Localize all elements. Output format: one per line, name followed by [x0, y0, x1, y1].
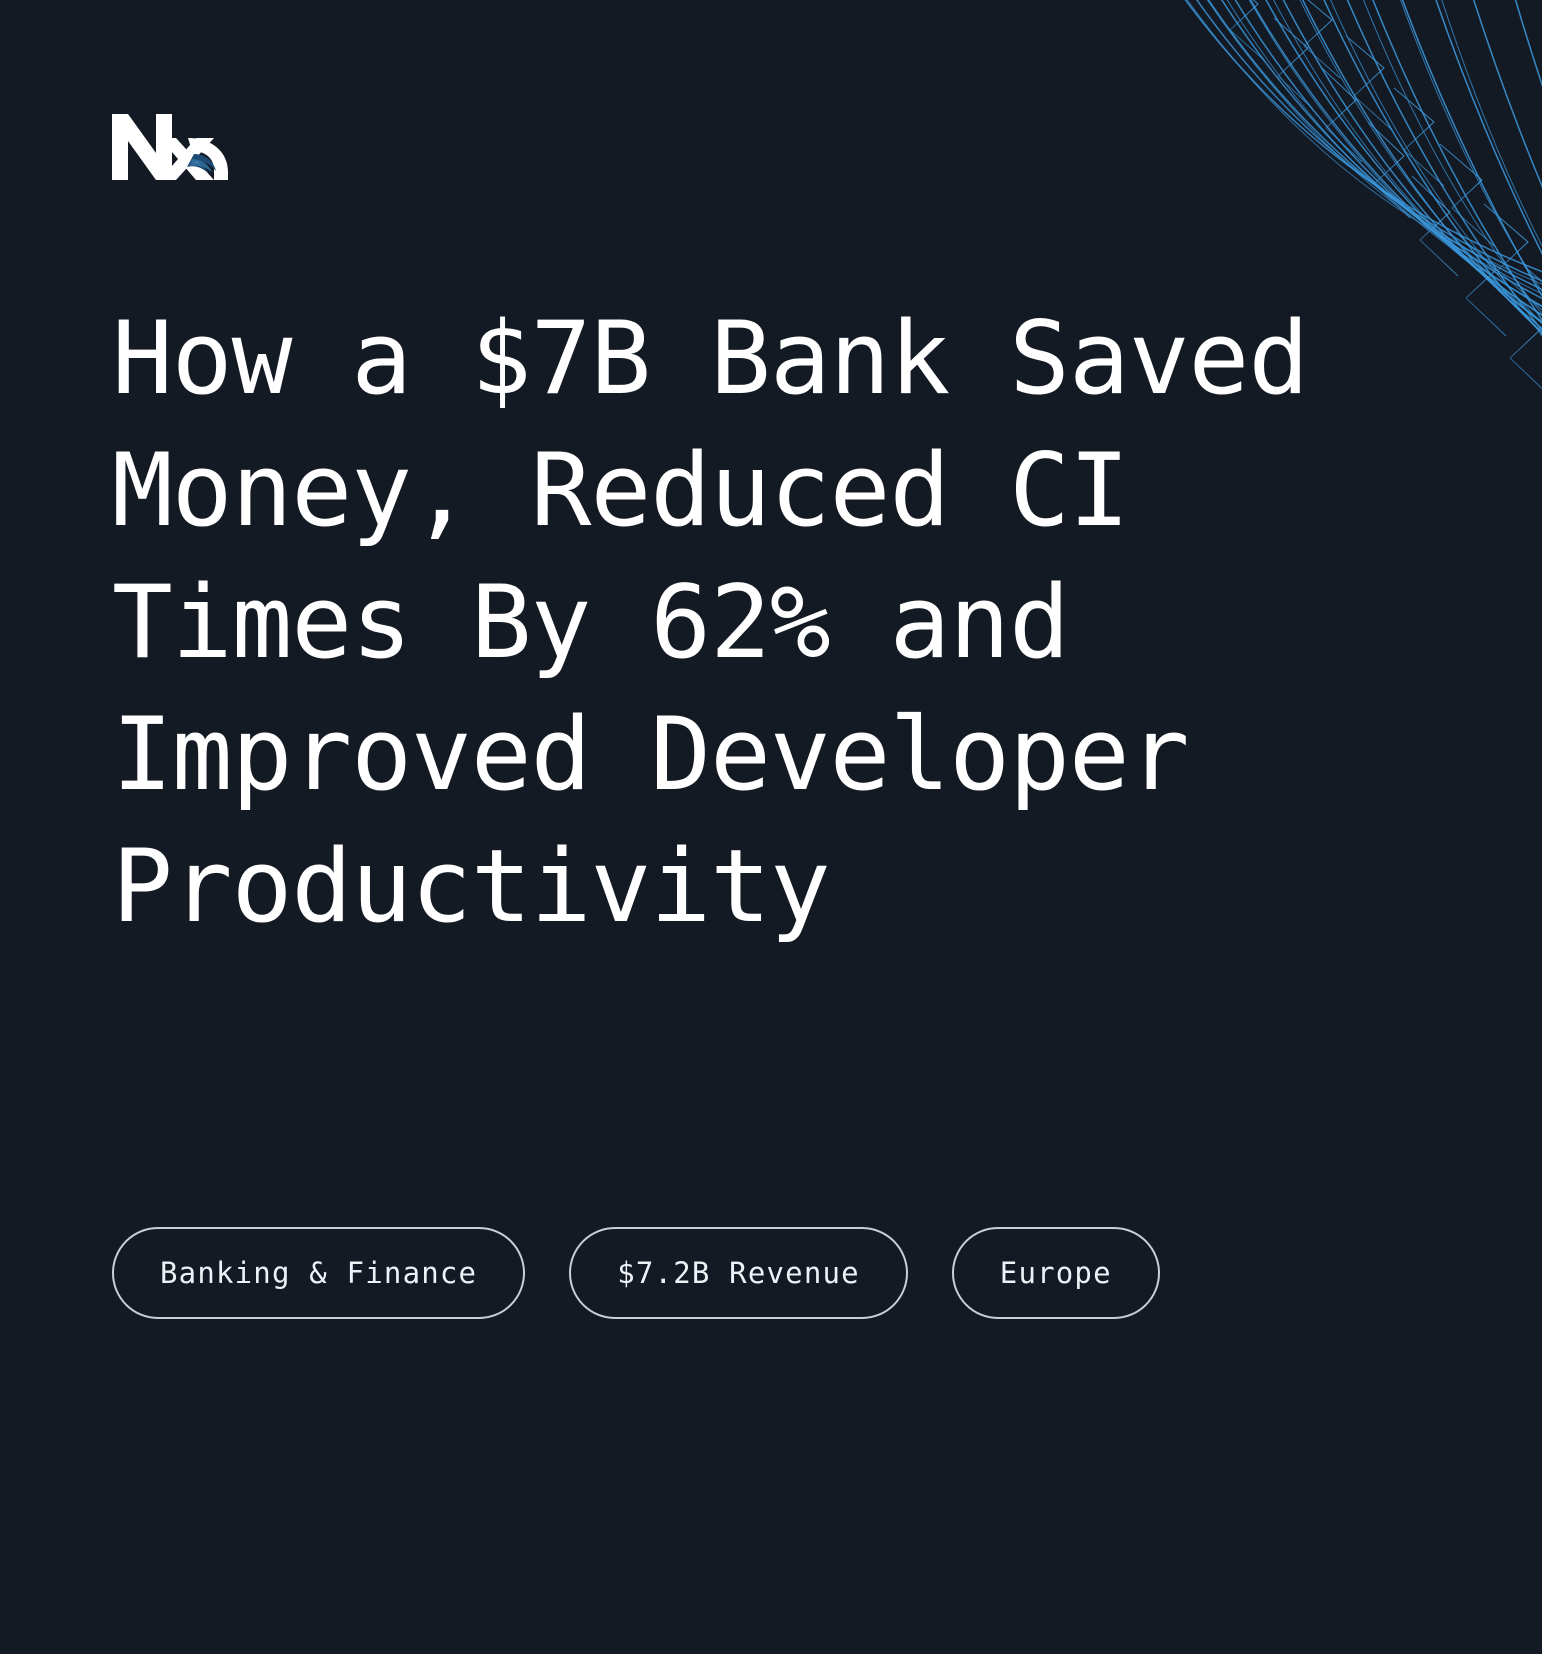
tag-pill-industry[interactable]: Banking & Finance — [112, 1227, 525, 1319]
nx-logo-letter-n — [112, 114, 172, 180]
tag-list: Banking & Finance $7.2B Revenue Europe — [112, 1227, 1160, 1319]
case-study-card: How a $7B Bank Saved Money, Reduced CI T… — [0, 0, 1542, 1654]
page-title: How a $7B Bank Saved Money, Reduced CI T… — [112, 292, 1422, 952]
tag-pill-region[interactable]: Europe — [952, 1227, 1160, 1319]
tag-pill-revenue[interactable]: $7.2B Revenue — [569, 1227, 908, 1319]
nx-logo — [110, 108, 232, 186]
